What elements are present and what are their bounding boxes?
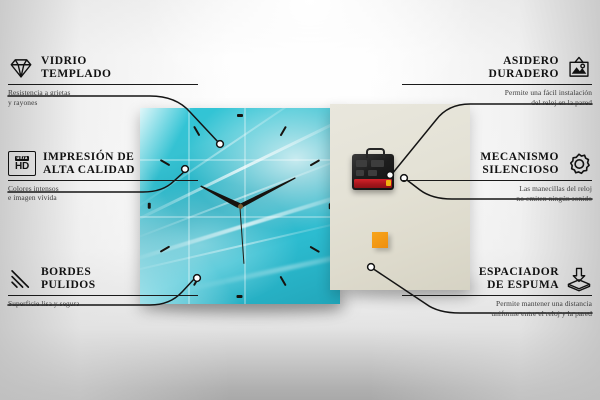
connector-dot-asidero bbox=[387, 172, 394, 179]
diamond-icon bbox=[8, 55, 34, 81]
picture-frame-hanging-icon bbox=[566, 55, 592, 81]
feature-header: VIDRIO TEMPLADO bbox=[8, 55, 198, 81]
feature-header: ultra HD IMPRESIÓN DE ALTA CALIDAD bbox=[8, 151, 198, 177]
feature-vidrio-templado[interactable]: VIDRIO TEMPLADO Resistencia a grietas y … bbox=[8, 55, 198, 107]
feature-header: ESPACIADOR DE ESPUMA bbox=[402, 266, 592, 292]
feature-subtitle: Resistencia a grietas y rayones bbox=[8, 88, 198, 107]
feature-title: ESPACIADOR DE ESPUMA bbox=[479, 266, 559, 292]
feature-subtitle: Permite una fácil instalación del reloj … bbox=[402, 88, 592, 107]
ultra-hd-badge-icon: ultra HD bbox=[8, 151, 36, 176]
feature-header: ASIDERO DURADERO bbox=[402, 55, 592, 81]
feature-underline bbox=[8, 84, 198, 85]
feature-title: IMPRESIÓN DE ALTA CALIDAD bbox=[43, 151, 135, 177]
feature-title: VIDRIO TEMPLADO bbox=[41, 55, 111, 81]
feature-impresion-alta-calidad[interactable]: ultra HD IMPRESIÓN DE ALTA CALIDAD Color… bbox=[8, 151, 198, 203]
feature-title: BORDES PULIDOS bbox=[41, 266, 96, 292]
feature-underline bbox=[402, 84, 592, 85]
feature-mecanismo-silencioso[interactable]: MECANISMO SILENCIOSO Las manecillas del … bbox=[402, 151, 592, 203]
feature-bordes-pulidos[interactable]: BORDES PULIDOS Superficie lisa y segura bbox=[8, 266, 198, 309]
infographic-canvas: VIDRIO TEMPLADO Resistencia a grietas y … bbox=[0, 0, 600, 400]
feature-subtitle: Superficie lisa y segura bbox=[8, 299, 198, 309]
feature-title: ASIDERO DURADERO bbox=[489, 55, 559, 81]
feature-underline bbox=[8, 295, 198, 296]
feature-espaciador-de-espuma[interactable]: ESPACIADOR DE ESPUMA Permite mantener un… bbox=[402, 266, 592, 318]
feature-header: BORDES PULIDOS bbox=[8, 266, 198, 292]
feature-underline bbox=[8, 180, 198, 181]
connector-dot-espaciador bbox=[368, 264, 375, 271]
connector-dot-vidrio bbox=[217, 141, 224, 148]
feature-title: MECANISMO SILENCIOSO bbox=[480, 151, 559, 177]
arrow-down-pad-icon bbox=[566, 266, 592, 292]
feature-subtitle: Las manecillas del reloj no emiten ningú… bbox=[402, 184, 592, 203]
feature-subtitle: Permite mantener una distancia uniforme … bbox=[402, 299, 592, 318]
feature-header: MECANISMO SILENCIOSO bbox=[402, 151, 592, 177]
feature-subtitle: Colores intensos e imagen vívida bbox=[8, 184, 198, 203]
feature-underline bbox=[402, 295, 592, 296]
feature-asidero-duradero[interactable]: ASIDERO DURADERO Permite una fácil insta… bbox=[402, 55, 592, 107]
diagonal-lines-icon bbox=[8, 266, 34, 292]
feature-underline bbox=[402, 180, 592, 181]
gear-icon bbox=[566, 151, 592, 177]
